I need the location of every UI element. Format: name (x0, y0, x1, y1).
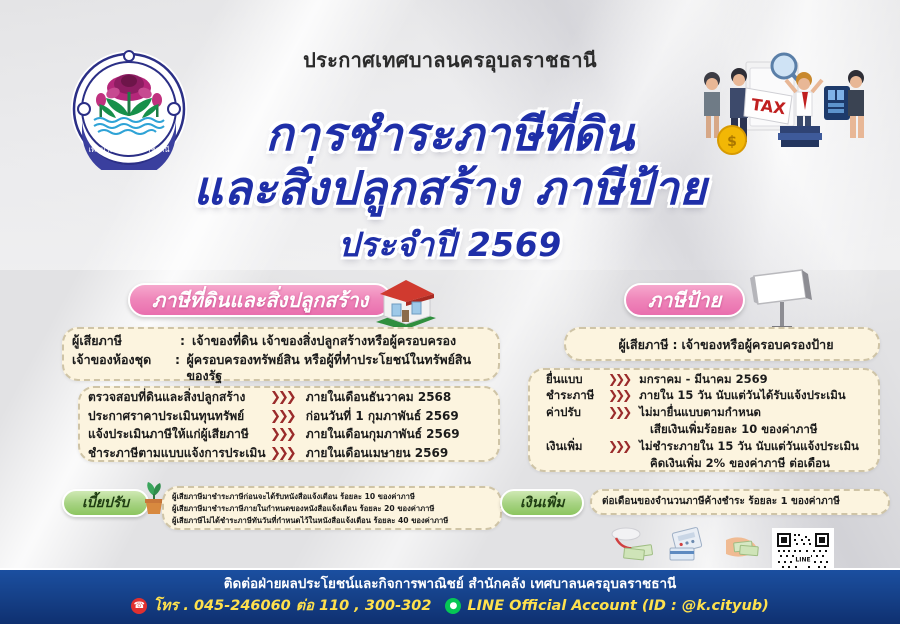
land-schedule-label-0: ตรวจสอบที่ดินและสิ่งปลูกสร้าง (88, 390, 270, 405)
arrows-icon: ❯❯❯ (608, 388, 629, 403)
arrows-icon: ❯❯❯ (608, 405, 629, 420)
qr-line-label: LINE (795, 557, 810, 564)
arrows-icon: ❯❯❯ (608, 372, 629, 387)
land-schedule-list: ตรวจสอบที่ดินและสิ่งปลูกสร้าง ❯❯❯ ภายในเ… (88, 390, 494, 465)
footer-phone-text: โทร . 045-246060 ต่อ 110 , 300-302 (153, 594, 431, 617)
sign-schedule-value-3b: คิดเงินเพิ่ม 2% ของค่าภาษี ต่อเดือน (650, 455, 876, 473)
main-title-year: ประจำปี 2569 (0, 218, 900, 271)
sign-payer-row: ผู้เสียภาษี : เจ้าของหรือผู้ครอบครองป้าย (576, 335, 876, 355)
sign-schedule-list: ยื่นแบบ ❯❯❯ มกราคม - มีนาคม 2569 ชำระภาษ… (546, 372, 876, 473)
billboard-icon (748, 268, 816, 330)
house-icon (368, 272, 440, 330)
land-schedule-row: ชำระภาษีตามแบบแจ้งการประเมิน ❯❯❯ ภายในเด… (88, 446, 494, 463)
arrows-icon: ❯❯❯ (270, 427, 294, 444)
sign-schedule-value-3: ไม่ชำระภายใน 15 วัน นับแต่วันแจ้งประเมิน (639, 439, 859, 454)
footer-line-item[interactable]: ● LINE Official Account (ID : @k.cityub) (445, 598, 768, 614)
arrows-icon: ❯❯❯ (608, 439, 629, 454)
hand-cash-icon (726, 537, 758, 556)
land-schedule-value-0: ภายในเดือนธันวาคม 2568 (306, 390, 452, 405)
sign-schedule-label-1: ชำระภาษี (546, 388, 608, 403)
sign-schedule-label-2: ค่าปรับ (546, 405, 608, 420)
land-payer-row: ผู้เสียภาษี : เจ้าของที่ดิน เจ้าของสิ่งป… (72, 333, 492, 349)
sign-payer-label: ผู้เสียภาษี (618, 337, 668, 352)
land-payer-row: เจ้าของห้องชุด : ผู้ครอบครองทรัพย์สิน หร… (72, 352, 492, 384)
footer-line-text: LINE Official Account (ID : @k.cityub) (467, 598, 768, 614)
sign-schedule-value-1: ภายใน 15 วัน นับแต่วันได้รับแจ้งประเมิน (639, 388, 845, 403)
poster-root: เทศบาลนครอุบลราชธานี (0, 0, 900, 624)
sign-schedule-label-0: ยื่นแบบ (546, 372, 608, 387)
footer-phone-item[interactable]: ☎ โทร . 045-246060 ต่อ 110 , 300-302 (131, 594, 431, 617)
calculator-card-icon (670, 527, 702, 560)
land-payer-colon-1: : (175, 352, 186, 368)
sign-schedule-value-0: มกราคม - มีนาคม 2569 (639, 372, 767, 387)
land-schedule-value-2: ภายในเดือนกุมภาพันธ์ 2569 (306, 427, 460, 442)
land-payer-value-1: ผู้ครอบครองทรัพย์สิน หรือผู้ที่ทำประโยชน… (186, 352, 492, 384)
land-schedule-row: ตรวจสอบที่ดินและสิ่งปลูกสร้าง ❯❯❯ ภายในเ… (88, 390, 494, 407)
land-payer-label-1: เจ้าของห้องชุด (72, 352, 175, 368)
fine-text-list: ผู้เสียภาษีมาชำระภาษีก่อนจะได้รับหนังสือ… (172, 491, 494, 526)
arrows-icon: ❯❯❯ (270, 390, 294, 407)
sign-schedule-row: ชำระภาษี ❯❯❯ ภายใน 15 วัน นับแต่วันได้รั… (546, 388, 876, 403)
line-icon: ● (445, 598, 461, 614)
arrows-icon: ❯❯❯ (270, 446, 294, 463)
sign-schedule-row: เงินเพิ่ม ❯❯❯ ไม่ชำระภายใน 15 วัน นับแต่… (546, 439, 876, 473)
footer-contact-line: ติดต่อฝ่ายผลประโยชน์และกิจการพาณิชย์ สำน… (0, 572, 900, 594)
land-schedule-label-3: ชำระภาษีตามแบบแจ้งการประเมิน (88, 446, 270, 461)
land-schedule-row: แจ้งประเมินภาษีให้แก่ผู้เสียภาษี ❯❯❯ ภาย… (88, 427, 494, 444)
fine-badge: เบี้ยปรับ (62, 489, 149, 517)
section-header-land-tax: ภาษีที่ดินและสิ่งปลูกสร้าง (128, 283, 392, 317)
section-header-sign-tax: ภาษีป้าย (624, 283, 745, 317)
land-payer-colon-0: : (180, 333, 192, 349)
fine-line: ผู้เสียภาษีไม่ได้ชำระภาษีทันวันที่กำหนดไ… (172, 515, 494, 527)
sign-schedule-row: ยื่นแบบ ❯❯❯ มกราคม - มีนาคม 2569 (546, 372, 876, 387)
land-payer-value-0: เจ้าของที่ดิน เจ้าของสิ่งปลูกสร้างหรือผู… (192, 333, 456, 349)
main-title-line-2: และสิ่งปลูกสร้าง ภาษีป้าย (0, 152, 900, 225)
land-payer-list: ผู้เสียภาษี : เจ้าของที่ดิน เจ้าของสิ่งป… (72, 333, 492, 387)
footer-channels: ☎ โทร . 045-246060 ต่อ 110 , 300-302 ● L… (0, 594, 900, 617)
land-schedule-value-3: ภายในเดือนเมษายน 2569 (306, 446, 449, 461)
sign-schedule-value-2b: เสียเงินเพิ่มร้อยละ 10 ของค่าภาษี (650, 421, 876, 439)
sign-payer-value: เจ้าของหรือผู้ครอบครองป้าย (681, 337, 833, 352)
money-transfer-icon (612, 528, 653, 560)
land-schedule-label-2: แจ้งประเมินภาษีให้แก่ผู้เสียภาษี (88, 427, 270, 442)
arrows-icon: ❯❯❯ (270, 409, 294, 426)
land-schedule-row: ประกาศราคาประเมินทุนทรัพย์ ❯❯❯ ก่อนวันที… (88, 409, 494, 426)
sign-schedule-row: ค่าปรับ ❯❯❯ ไม่มายื่นแบบตามกำหนด เสียเงิ… (546, 405, 876, 439)
surcharge-text: ต่อเดือนของจำนวนภาษีค้างชำระ ร้อยละ 1 ขอ… (602, 494, 884, 509)
phone-icon: ☎ (131, 598, 147, 614)
land-schedule-label-1: ประกาศราคาประเมินทุนทรัพย์ (88, 409, 270, 424)
surcharge-badge: เงินเพิ่ม (500, 489, 584, 517)
sign-schedule-value-2: ไม่มายื่นแบบตามกำหนด (639, 405, 761, 420)
fine-line: ผู้เสียภาษีมาชำระภาษีก่อนจะได้รับหนังสือ… (172, 491, 494, 503)
sign-payer-colon: : (673, 337, 678, 352)
land-payer-label-0: ผู้เสียภาษี (72, 333, 180, 349)
land-schedule-value-1: ก่อนวันที่ 1 กุมภาพันธ์ 2569 (306, 409, 459, 424)
announcement-subtitle: ประกาศเทศบาลนครอุบลราชธานี (0, 44, 900, 76)
fine-line: ผู้เสียภาษีมาชำระภาษีภายในกำหนดของหนังสื… (172, 503, 494, 515)
sign-schedule-label-3: เงินเพิ่ม (546, 439, 608, 454)
payment-icons-row (608, 524, 768, 564)
